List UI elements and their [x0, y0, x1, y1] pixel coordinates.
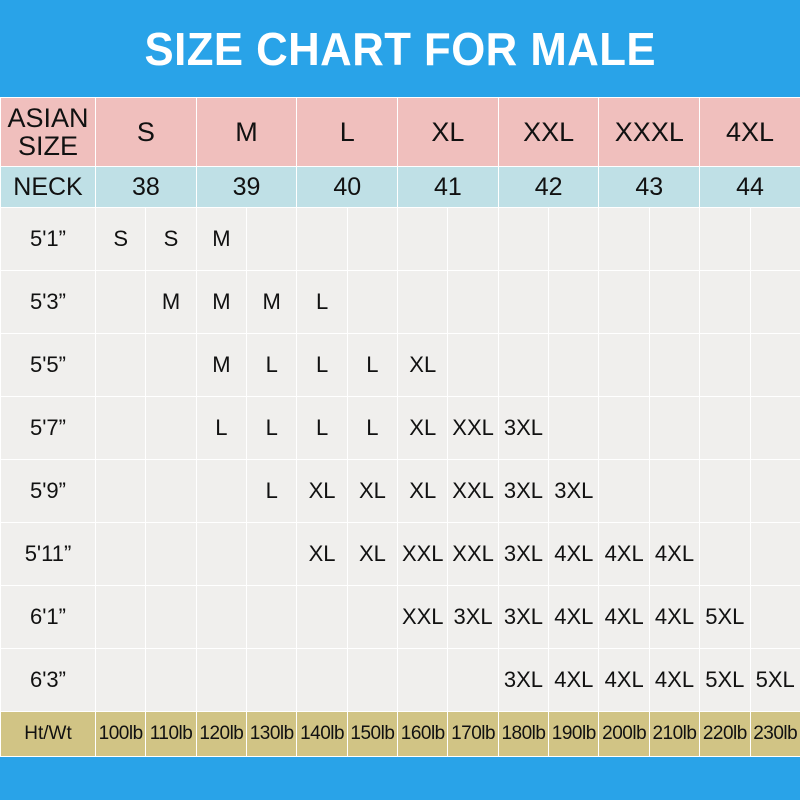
size-cell: L [297, 397, 347, 460]
size-cell: 3XL [498, 586, 548, 649]
title-banner: SIZE CHART FOR MALE [0, 0, 800, 97]
empty-cell [599, 397, 649, 460]
neck-value-xl: 41 [398, 167, 499, 208]
neck-value-xxxl: 43 [599, 167, 700, 208]
empty-cell [146, 586, 196, 649]
empty-cell [398, 649, 448, 712]
empty-cell [297, 208, 347, 271]
size-cell: XXL [398, 586, 448, 649]
empty-cell [599, 271, 649, 334]
asian-size-label: ASIAN SIZE [1, 98, 96, 167]
asian-size-label-line2: SIZE [1, 132, 95, 160]
size-cell: 4XL [649, 586, 699, 649]
empty-cell [599, 460, 649, 523]
empty-cell [96, 460, 146, 523]
size-cell: 5XL [700, 586, 750, 649]
empty-cell [196, 460, 246, 523]
size-cell: L [247, 334, 297, 397]
empty-cell [750, 586, 800, 649]
empty-cell [549, 271, 599, 334]
size-chart-root: SIZE CHART FOR MALE ASIAN SIZE [0, 0, 800, 800]
empty-cell [549, 208, 599, 271]
size-cell: M [146, 271, 196, 334]
empty-cell [498, 208, 548, 271]
size-cell: 4XL [599, 586, 649, 649]
size-header-l: L [297, 98, 398, 167]
size-cell: L [196, 397, 246, 460]
size-cell: S [96, 208, 146, 271]
height-label: 5'9” [1, 460, 96, 523]
weight-label: 130lb [247, 712, 297, 757]
empty-cell [549, 334, 599, 397]
empty-cell [700, 460, 750, 523]
empty-cell [700, 334, 750, 397]
empty-cell [247, 586, 297, 649]
height-label: 5'5” [1, 334, 96, 397]
size-cell: XL [398, 397, 448, 460]
height-label: 6'3” [1, 649, 96, 712]
empty-cell [96, 397, 146, 460]
empty-cell [96, 271, 146, 334]
weight-footer-row: Ht/Wt 100lb110lb120lb130lb140lb150lb160l… [1, 712, 800, 757]
size-header-xl: XL [398, 98, 499, 167]
size-cell: L [347, 334, 397, 397]
empty-cell [96, 586, 146, 649]
empty-cell [498, 271, 548, 334]
size-cell: XXL [448, 397, 498, 460]
table-row: 5'9” LXLXLXLXXL3XL3XL [1, 460, 800, 523]
weight-label: 120lb [196, 712, 246, 757]
size-cell: 3XL [498, 460, 548, 523]
size-cell: 5XL [700, 649, 750, 712]
neck-value-4xl: 44 [700, 167, 800, 208]
weight-label: 180lb [498, 712, 548, 757]
bottom-banner [0, 757, 800, 800]
empty-cell [700, 523, 750, 586]
empty-cell [96, 523, 146, 586]
size-header-m: M [196, 98, 297, 167]
empty-cell [347, 649, 397, 712]
empty-cell [750, 523, 800, 586]
empty-cell [146, 649, 196, 712]
size-cell: M [196, 334, 246, 397]
empty-cell [599, 208, 649, 271]
size-cell: XL [347, 460, 397, 523]
size-cell: 3XL [498, 649, 548, 712]
page-title: SIZE CHART FOR MALE [144, 22, 656, 76]
height-label: 6'1” [1, 586, 96, 649]
size-cell: 3XL [498, 523, 548, 586]
size-cell: 4XL [599, 649, 649, 712]
height-label: 5'7” [1, 397, 96, 460]
empty-cell [347, 586, 397, 649]
empty-cell [700, 271, 750, 334]
size-cell: L [347, 397, 397, 460]
empty-cell [750, 334, 800, 397]
empty-cell [649, 271, 699, 334]
size-cell: 3XL [498, 397, 548, 460]
empty-cell [700, 397, 750, 460]
empty-cell [146, 460, 196, 523]
empty-cell [146, 523, 196, 586]
size-cell: XXL [398, 523, 448, 586]
size-cell: L [247, 460, 297, 523]
empty-cell [196, 649, 246, 712]
weight-label: 140lb [297, 712, 347, 757]
empty-cell [448, 649, 498, 712]
neck-value-l: 40 [297, 167, 398, 208]
empty-cell [196, 523, 246, 586]
empty-cell [649, 460, 699, 523]
neck-row: NECK 38 39 40 41 42 43 44 [1, 167, 800, 208]
asian-size-header-row: ASIAN SIZE S M L XL XXL XXXL 4XL [1, 98, 800, 167]
empty-cell [649, 397, 699, 460]
size-cell: XL [347, 523, 397, 586]
empty-cell [347, 208, 397, 271]
empty-cell [750, 460, 800, 523]
weight-label: 220lb [700, 712, 750, 757]
size-header-4xl: 4XL [700, 98, 800, 167]
size-cell: XL [297, 523, 347, 586]
empty-cell [649, 334, 699, 397]
empty-cell [750, 208, 800, 271]
size-cell: 4XL [549, 523, 599, 586]
size-chart-table: ASIAN SIZE S M L XL XXL XXXL 4XL NECK 38… [0, 97, 800, 757]
weight-label: 160lb [398, 712, 448, 757]
empty-cell [700, 208, 750, 271]
asian-size-label-line1: ASIAN [1, 104, 95, 132]
size-table-container: ASIAN SIZE S M L XL XXL XXXL 4XL NECK 38… [0, 97, 800, 757]
empty-cell [247, 649, 297, 712]
empty-cell [750, 271, 800, 334]
weight-label: 150lb [347, 712, 397, 757]
htwt-label: Ht/Wt [1, 712, 96, 757]
empty-cell [448, 208, 498, 271]
table-row: 5'1” SSM [1, 208, 800, 271]
size-cell: XL [297, 460, 347, 523]
empty-cell [196, 586, 246, 649]
neck-value-s: 38 [96, 167, 197, 208]
size-cell: XXL [448, 460, 498, 523]
height-label: 5'3” [1, 271, 96, 334]
size-cell: L [247, 397, 297, 460]
size-cell: M [196, 208, 246, 271]
empty-cell [247, 523, 297, 586]
weight-label: 190lb [549, 712, 599, 757]
size-cell: 5XL [750, 649, 800, 712]
empty-cell [498, 334, 548, 397]
size-cell: L [297, 271, 347, 334]
size-cell: 3XL [549, 460, 599, 523]
size-header-xxl: XXL [498, 98, 599, 167]
height-label: 5'1” [1, 208, 96, 271]
neck-value-m: 39 [196, 167, 297, 208]
empty-cell [297, 649, 347, 712]
size-cell: L [297, 334, 347, 397]
empty-cell [750, 397, 800, 460]
empty-cell [398, 208, 448, 271]
table-row: 5'11” XLXLXXLXXL3XL4XL4XL4XL [1, 523, 800, 586]
weight-label: 110lb [146, 712, 196, 757]
weight-label: 230lb [750, 712, 800, 757]
empty-cell [649, 208, 699, 271]
table-row: 6'3” 3XL4XL4XL4XL5XL5XL [1, 649, 800, 712]
size-cell: XL [398, 460, 448, 523]
empty-cell [146, 334, 196, 397]
height-label: 5'11” [1, 523, 96, 586]
size-cell: S [146, 208, 196, 271]
size-cell: 4XL [549, 586, 599, 649]
empty-cell [146, 397, 196, 460]
empty-cell [448, 271, 498, 334]
weight-label: 200lb [599, 712, 649, 757]
empty-cell [549, 397, 599, 460]
size-header-s: S [96, 98, 197, 167]
size-cell: 4XL [649, 523, 699, 586]
empty-cell [96, 649, 146, 712]
size-header-xxxl: XXXL [599, 98, 700, 167]
weight-label: 170lb [448, 712, 498, 757]
table-row: 5'7” LLLLXLXXL3XL [1, 397, 800, 460]
table-row: 6'1” XXL3XL3XL4XL4XL4XL5XL [1, 586, 800, 649]
neck-value-xxl: 42 [498, 167, 599, 208]
empty-cell [347, 271, 397, 334]
size-cell: XXL [448, 523, 498, 586]
table-row: 5'5” MLLLXL [1, 334, 800, 397]
size-cell: 4XL [599, 523, 649, 586]
table-row: 5'3” MMML [1, 271, 800, 334]
empty-cell [297, 586, 347, 649]
empty-cell [247, 208, 297, 271]
size-cell: M [247, 271, 297, 334]
weight-label: 100lb [96, 712, 146, 757]
size-cell: 3XL [448, 586, 498, 649]
size-cell: M [196, 271, 246, 334]
empty-cell [96, 334, 146, 397]
empty-cell [398, 271, 448, 334]
empty-cell [448, 334, 498, 397]
size-cell: 4XL [549, 649, 599, 712]
size-cell: 4XL [649, 649, 699, 712]
size-cell: XL [398, 334, 448, 397]
empty-cell [599, 334, 649, 397]
neck-label: NECK [1, 167, 96, 208]
weight-label: 210lb [649, 712, 699, 757]
